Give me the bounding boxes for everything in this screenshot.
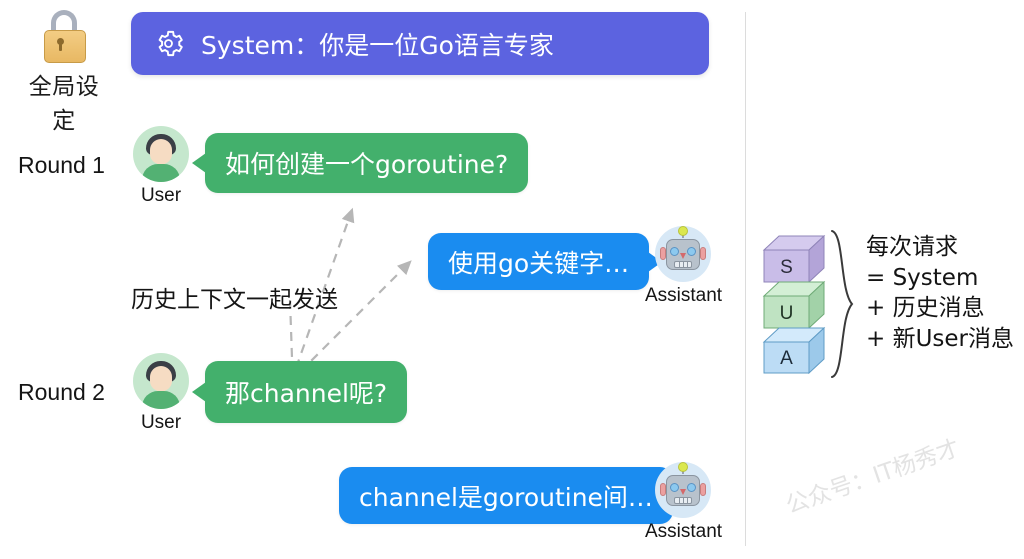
panel-divider (745, 12, 746, 546)
user-avatar-caption: User (123, 412, 199, 434)
summary-line: + 新User消息 (866, 324, 1014, 355)
round-2-label: Round 2 (18, 379, 105, 406)
curly-brace (828, 228, 858, 380)
svg-text:A: A (780, 348, 793, 369)
svg-text:U: U (780, 303, 794, 324)
user-avatar-caption: User (123, 185, 199, 207)
round-1-user-message[interactable]: 如何创建一个goroutine? (205, 133, 528, 193)
assistant-avatar-caption: Assistant (645, 521, 721, 543)
lock-icon (40, 10, 88, 62)
round-1-assistant-message[interactable]: 使用go关键字… (428, 233, 649, 290)
watermark: 公众号：IT杨秀才 (780, 429, 963, 520)
assistant-avatar-caption: Assistant (645, 285, 721, 307)
summary-line: + 历史消息 (866, 293, 1014, 324)
round-1-user-avatar-block: User (123, 126, 199, 207)
round-1-assistant-message-text: 使用go关键字… (428, 244, 649, 280)
system-prompt-text: System：你是一位Go语言专家 (201, 26, 554, 62)
diagram-canvas: 全局设定 System：你是一位Go语言专家 Round 1 User 如何创建… (0, 0, 1024, 559)
robot-avatar (655, 226, 711, 282)
request-composition-summary: 每次请求 = System + 历史消息 + 新User消息 (866, 232, 1014, 354)
user-avatar (133, 353, 189, 409)
cube-system: S (764, 236, 824, 282)
round-1-assistant-avatar-block: Assistant (645, 226, 721, 307)
global-setting-group: 全局设定 (22, 10, 106, 135)
round-2-user-avatar-block: User (123, 353, 199, 434)
round-2-assistant-avatar-block: Assistant (645, 462, 721, 543)
message-cube-stack: S U A (762, 232, 834, 374)
robot-avatar (655, 462, 711, 518)
summary-line: = System (866, 263, 1014, 294)
context-annotation-label: 历史上下文一起发送 (131, 280, 338, 314)
round-2-assistant-message-text: channel是goroutine间… (339, 478, 673, 514)
system-prompt-banner[interactable]: System：你是一位Go语言专家 (131, 12, 709, 75)
round-1-user-message-text: 如何创建一个goroutine? (205, 145, 528, 181)
round-2-user-message-text: 那channel呢? (205, 374, 407, 410)
summary-line: 每次请求 (866, 232, 1014, 263)
cube-assistant: A (764, 328, 824, 373)
global-setting-label: 全局设定 (22, 67, 106, 135)
gear-icon (153, 28, 184, 59)
round-2-user-message[interactable]: 那channel呢? (205, 361, 407, 423)
cube-user: U (764, 282, 824, 328)
user-avatar (133, 126, 189, 182)
round-2-assistant-message[interactable]: channel是goroutine间… (339, 467, 673, 524)
svg-text:S: S (780, 257, 793, 278)
round-1-label: Round 1 (18, 152, 105, 179)
